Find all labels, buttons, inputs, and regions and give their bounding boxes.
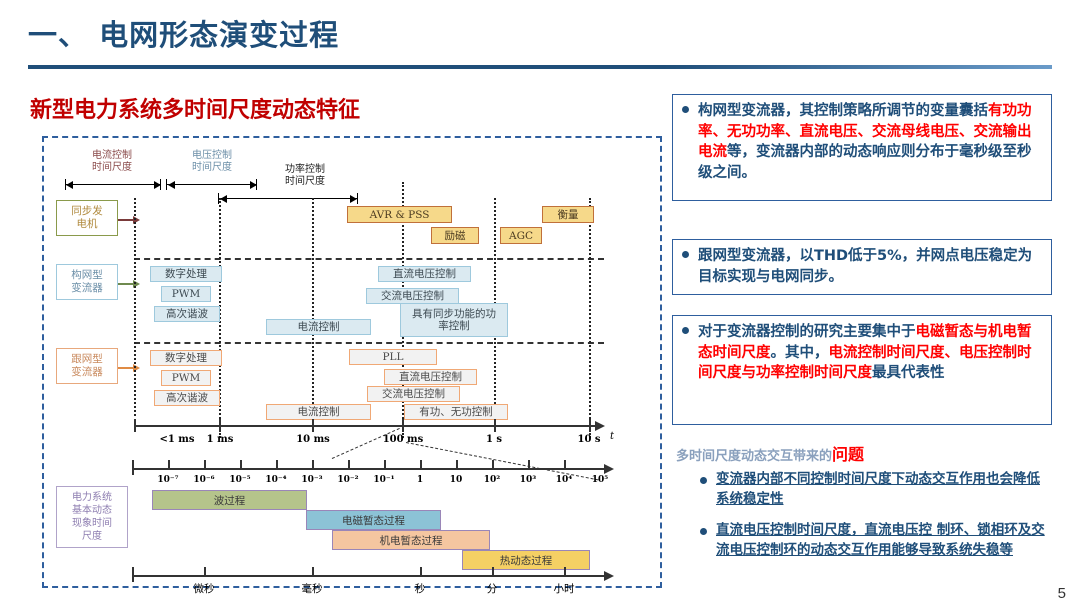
issue-item-1: 变流器内部不同控制时间尺度下动态交互作用也会降低系统稳定性	[700, 470, 1048, 509]
page-number: 5	[1058, 585, 1066, 602]
axis-tick-1ms	[219, 419, 221, 432]
log-label-e-2: 10⁻²	[328, 475, 368, 485]
log-tick-e-5	[240, 460, 242, 469]
research-focus-callout: 对于变流器控制的研究主要集中于电磁暂态与机电暂态时间尺度。其中，电流控制时间尺度…	[672, 315, 1052, 425]
arrow-sync	[118, 219, 134, 221]
unit-tick-start	[132, 567, 134, 582]
unit-label-second: 秒	[400, 581, 440, 596]
source-sync-generator: 同步发电机	[56, 200, 118, 236]
dim-arrow-voltage-left	[168, 181, 175, 189]
dim-line-power	[219, 198, 358, 199]
arrow-gfl	[118, 367, 134, 369]
bullet-icon	[682, 251, 689, 258]
bar-gfm-dc-voltage-ctrl: 直流电压控制	[378, 266, 471, 282]
bar-gfl-dc-voltage-ctrl: 直流电压控制	[384, 369, 477, 385]
axis-label-10s: 10 s	[563, 434, 615, 445]
dim-arrow-current-right	[154, 181, 161, 189]
slide-root: 一、 电网形态演变过程 新型电力系统多时间尺度动态特征 5 电流控制时间尺度 电…	[0, 0, 1080, 608]
log-tick-1	[420, 460, 422, 469]
log-tick-e-7	[168, 460, 170, 469]
axis-tick-1s	[494, 419, 496, 432]
log-label-e-5: 10⁻⁵	[220, 475, 260, 485]
bar-gfm-digital: 数字处理	[150, 266, 222, 282]
timescale-side-label: 电力系统基本动态现象时间尺度	[56, 486, 128, 548]
unit-label-hour: 小时	[544, 581, 584, 596]
bar-excitation: 励磁	[431, 227, 479, 244]
dim-label-current: 电流控制时间尺度	[64, 150, 160, 174]
unit-tick-hour	[564, 567, 566, 576]
bar-gfl-digital: 数字处理	[150, 350, 222, 366]
bullet-icon	[682, 327, 689, 334]
bar-gfl-pwm: PWM	[161, 370, 211, 386]
source-grid-forming: 构网型变流器	[56, 264, 118, 300]
grid-following-callout: 跟网型变流器，以THD低于5%，并网点电压稳定为目标实现与电网同步。	[672, 239, 1052, 295]
section-subtitle: 新型电力系统多时间尺度动态特征	[30, 92, 360, 124]
row-sep-2	[134, 342, 604, 344]
grid-forming-callout: 构网型变流器，其控制策略所调节的变量囊括有功功率、无功功率、直流电压、交流母线电…	[672, 94, 1052, 201]
phase-wave-process: 波过程	[152, 490, 307, 510]
log-axis-arrow	[604, 464, 614, 474]
bullet-icon	[700, 477, 707, 484]
unit-tick-us	[204, 567, 206, 576]
phase-eme-transient: 机电暂态过程	[332, 530, 490, 550]
bar-gfl-ac-voltage-ctrl: 交流电压控制	[367, 386, 460, 402]
source-grid-following: 跟网型变流器	[56, 348, 118, 384]
issues-heading-normal: 多时间尺度动态交互带来的	[676, 449, 832, 464]
row-sep-1	[134, 258, 604, 260]
phase-thermal-dynamic: 热动态过程	[462, 550, 590, 570]
log-label-1: 1	[400, 475, 440, 485]
log-tick-e-6	[204, 460, 206, 469]
page-title: 一、 电网形态演变过程	[28, 12, 339, 54]
unit-axis-line	[132, 575, 605, 577]
log-tick-e-4	[276, 460, 278, 469]
log-label-10: 10	[436, 475, 476, 485]
issue-item-2-text: 直流电压控制时间尺度，直流电压控 制环、锁相环及交流电压控制环的动态交互作用能够…	[716, 521, 1048, 560]
dim-label-power: 功率控制时间尺度	[260, 164, 350, 188]
unit-tick-min	[492, 567, 494, 576]
log-tick-e4	[564, 460, 566, 469]
grid-col-left	[134, 198, 136, 416]
time-axis-arrow	[595, 421, 605, 431]
log-tick-e3	[528, 460, 530, 469]
unit-tick-ms	[312, 567, 314, 576]
bar-gfl-current-ctrl: 电流控制	[266, 404, 371, 420]
dim-line-voltage	[167, 184, 257, 185]
log-tick-e-3	[312, 460, 314, 469]
title-divider	[28, 65, 1052, 69]
grid-forming-callout-text: 构网型变流器，其控制策略所调节的变量囊括有功功率、无功功率、直流电压、交流母线电…	[698, 101, 1043, 183]
log-label-e-1: 10⁻¹	[364, 475, 404, 485]
dim-line-current	[66, 184, 161, 185]
phase-em-transient: 电磁暂态过程	[306, 510, 441, 530]
bar-measure: 衡量	[542, 206, 594, 223]
axis-variable-t: t	[610, 431, 614, 442]
bullet-icon	[682, 106, 689, 113]
issue-item-2: 直流电压控制时间尺度，直流电压控 制环、锁相环及交流电压控制环的动态交互作用能够…	[700, 521, 1048, 560]
log-label-e2: 10²	[472, 475, 512, 485]
axis-tick-100ms	[402, 419, 404, 432]
grid-col-10ms	[312, 198, 314, 416]
axis-tick-10ms	[312, 419, 314, 432]
unit-tick-s	[420, 567, 422, 576]
log-label-e-6: 10⁻⁶	[184, 475, 224, 485]
log-axis-line	[132, 468, 605, 470]
log-tick-e-2	[348, 460, 350, 469]
unit-axis-arrow	[604, 571, 614, 581]
log-tick-e2	[492, 460, 494, 469]
axis-tick-start	[134, 419, 136, 432]
log-tick-10	[456, 460, 458, 469]
dim-label-voltage: 电压控制时间尺度	[167, 150, 257, 174]
research-focus-callout-text: 对于变流器控制的研究主要集中于电磁暂态与机电暂态时间尺度。其中，电流控制时间尺度…	[698, 322, 1043, 384]
issues-heading-highlight: 问题	[832, 445, 864, 464]
grid-col-10s	[589, 198, 591, 438]
bar-gfl-harmonics: 高次谐波	[154, 390, 220, 406]
time-axis-line	[134, 425, 596, 427]
bar-gfl-pll: PLL	[349, 349, 437, 365]
bar-gfm-harmonics: 高次谐波	[154, 306, 220, 322]
unit-label-microsecond: 微秒	[184, 581, 224, 596]
log-tick-e-1	[384, 460, 386, 469]
unit-label-millisecond: 毫秒	[292, 581, 332, 596]
dim-arrow-power-right	[350, 195, 357, 203]
unit-label-minute: 分	[472, 581, 512, 596]
log-label-e4: 10⁴	[544, 475, 584, 485]
issues-heading: 多时间尺度动态交互带来的问题	[676, 441, 864, 465]
bar-gfm-current-ctrl: 电流控制	[266, 319, 371, 335]
bar-gfm-ac-voltage-ctrl: 交流电压控制	[366, 288, 459, 304]
bar-gfm-sync-power-ctrl: 具有同步功能的功率控制	[400, 303, 508, 337]
arrow-gfm	[118, 283, 134, 285]
issue-item-1-text: 变流器内部不同控制时间尺度下动态交互作用也会降低系统稳定性	[716, 470, 1048, 509]
dim-arrow-power-left	[220, 195, 227, 203]
bar-avr-pss: AVR & PSS	[347, 206, 452, 223]
dim-arrow-voltage-right	[250, 181, 257, 189]
axis-label-1ms: 1 ms	[192, 434, 248, 445]
bullet-icon	[700, 528, 707, 535]
log-tick-start	[132, 460, 134, 475]
bar-gfm-pwm: PWM	[161, 286, 211, 302]
log-label-e-3: 10⁻³	[292, 475, 332, 485]
log-label-e-7: 10⁻⁷	[148, 475, 188, 485]
grid-following-callout-text: 跟网型变流器，以THD低于5%，并网点电压稳定为目标实现与电网同步。	[698, 246, 1043, 287]
bar-gfl-pq-ctrl: 有功、无功控制	[404, 404, 508, 420]
dim-arrow-current-left	[66, 181, 73, 189]
axis-label-1s: 1 s	[468, 434, 520, 445]
log-label-e3: 10³	[508, 475, 548, 485]
axis-tick-10s	[589, 419, 591, 432]
log-label-e-4: 10⁻⁴	[256, 475, 296, 485]
axis-label-10ms: 10 ms	[284, 434, 342, 445]
timescale-diagram: 电流控制时间尺度 电压控制时间尺度 功率控制时间尺度 同步发电机 构网型变流器 …	[42, 136, 662, 588]
bar-agc: AGC	[500, 227, 542, 244]
log-label-e5: 10⁵	[580, 475, 620, 485]
